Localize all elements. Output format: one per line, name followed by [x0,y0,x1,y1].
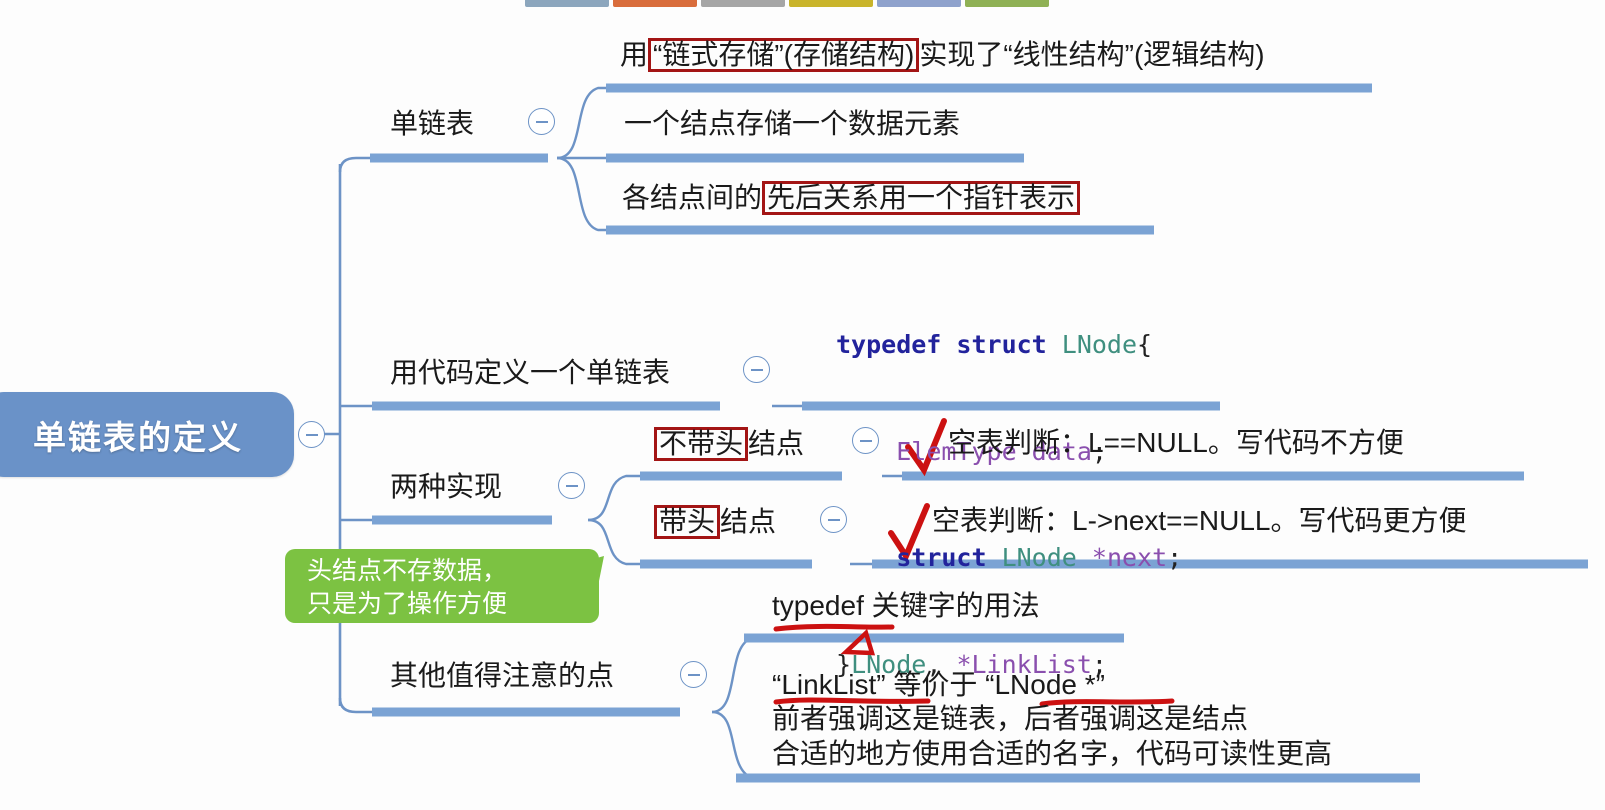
head-node-callout-text: 头结点不存数据， 只是为了操作方便 [307,555,507,622]
leaf-linklist-line-3: 合适的地方使用合适的名字，代码可读性更高 [772,737,1332,771]
toggle-other-notes[interactable] [680,661,707,688]
leaf-chain-storage-part-0: 用 [620,39,648,70]
mindmap-canvas: 单链表的定义 单链表 用“链式存储”(存储结构)实现了“线性结构”(逻辑结构) … [0,0,1605,810]
minus-icon [566,485,578,487]
leaf-linklist-line-1: “LinkList” 等价于 “LNode *” [772,668,1332,702]
leaf-chain-storage-part-2: 实现了“线性结构”(逻辑结构) [919,39,1264,70]
swatch-yellow[interactable] [789,0,873,7]
with-head-node-suffix: 结点 [720,506,776,537]
no-head-node-highlight: 不带头 [654,427,748,461]
swatch-orange[interactable] [613,0,697,7]
branch-label-code-define[interactable]: 用代码定义一个单链表 [390,357,670,389]
leaf-one-node[interactable]: 一个结点存储一个数据元素 [624,108,960,140]
minus-icon [860,440,872,442]
with-head-node-highlight: 带头 [654,505,720,539]
branch-label-dan-lian-biao[interactable]: 单链表 [390,108,474,140]
swatch-gray[interactable] [701,0,785,7]
detail-no-head-node[interactable]: 空表判断：L==NULL。写代码不方便 [948,427,1404,459]
node-with-head-node[interactable]: 带头结点 [654,505,776,539]
branch-label-two-implementations[interactable]: 两种实现 [390,471,502,503]
toggle-no-head-node[interactable] [852,427,879,454]
no-head-node-suffix: 结点 [748,428,804,459]
swatch-green[interactable] [965,0,1049,7]
leaf-typedef-usage[interactable]: typedef 关键字的用法 [772,590,1040,622]
toggle-with-head-node[interactable] [820,506,847,533]
leaf-pointer-order-highlight: 先后关系用一个指针表示 [762,181,1080,215]
root-toggle-collapse[interactable] [298,421,325,448]
root-node[interactable]: 单链表的定义 [0,392,294,477]
branch-label-other-notes[interactable]: 其他值得注意的点 [390,660,614,692]
swatch-blue-gray[interactable] [525,0,609,7]
leaf-linklist-equiv[interactable]: “LinkList” 等价于 “LNode *” 前者强调这是链表，后者强调这是… [772,668,1332,771]
root-node-label: 单链表的定义 [33,411,243,459]
leaf-chain-storage[interactable]: 用“链式存储”(存储结构)实现了“线性结构”(逻辑结构) [620,38,1265,72]
leaf-one-node-text: 一个结点存储一个数据元素 [624,108,960,139]
toggle-two-implementations[interactable] [558,472,585,499]
leaf-linklist-line-2: 前者强调这是链表，后者强调这是结点 [772,702,1332,736]
leaf-chain-storage-highlight: “链式存储”(存储结构) [648,38,919,72]
swatch-blue[interactable] [877,0,961,7]
head-node-callout[interactable]: 头结点不存数据， 只是为了操作方便 [285,549,599,623]
toggle-code-define[interactable] [743,356,770,383]
minus-icon [828,519,840,521]
detail-with-head-node[interactable]: 空表判断：L->next==NULL。写代码更方便 [932,505,1466,537]
minus-icon [688,674,700,676]
toggle-dan-lian-biao[interactable] [528,108,555,135]
leaf-pointer-order-part-0: 各结点间的 [622,182,762,213]
minus-icon [536,121,548,123]
minus-icon [751,369,763,371]
leaf-pointer-order[interactable]: 各结点间的先后关系用一个指针表示 [622,181,1080,215]
code-line-3: struct LNode *next; [836,540,1182,576]
code-line-1: typedef struct LNode{ [836,327,1182,363]
minus-icon [306,434,318,436]
node-no-head-node[interactable]: 不带头结点 [654,427,804,461]
